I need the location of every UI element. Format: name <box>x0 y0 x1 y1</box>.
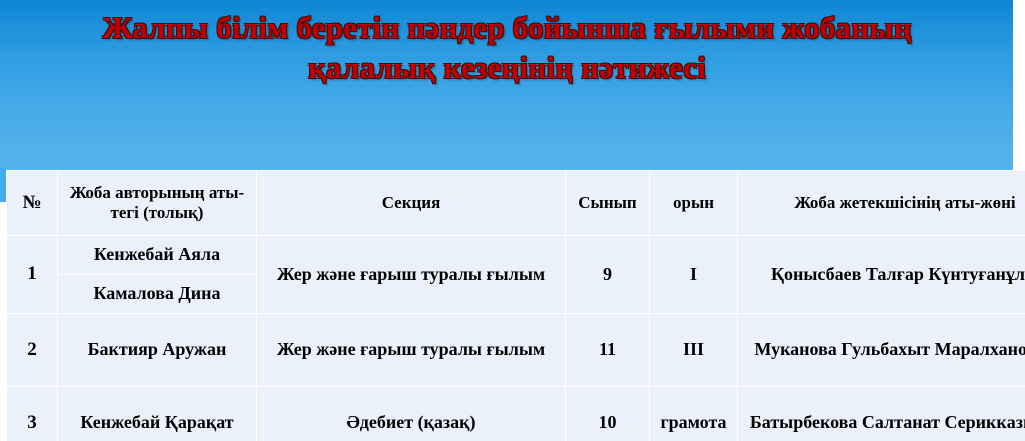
table-header-row: № Жоба авторының аты-тегі (толық) Секция… <box>7 171 1025 236</box>
cell-section: Әдебиет (қазақ) <box>257 387 566 441</box>
header-place: орын <box>650 171 738 236</box>
table-row: 3 Кенжебай Қарақат Әдебиет (қазақ) 10 гр… <box>7 387 1025 441</box>
cell-supervisor: Батырбекова Салтанат Сериккaзиева <box>738 387 1025 441</box>
slide-canvas: Жалпы білім беретін пәндер бойынша ғылым… <box>0 0 1025 441</box>
cell-section: Жер және ғарыш туралы ғылым <box>257 314 566 387</box>
title-line-1: Жалпы білім беретін пәндер бойынша ғылым… <box>32 8 982 48</box>
cell-author: Кенжебай Аяла <box>58 236 257 275</box>
cell-grade: 9 <box>566 236 650 314</box>
header-author: Жоба авторының аты-тегі (толық) <box>58 171 257 236</box>
header-supervisor: Жоба жетекшісінің аты-жөні <box>738 171 1025 236</box>
header-number: № <box>7 171 58 236</box>
page-title: Жалпы білім беретін пәндер бойынша ғылым… <box>32 8 982 87</box>
cell-supervisor: Муканова Гульбахыт Маралхановна <box>738 314 1025 387</box>
header-grade: Сынып <box>566 171 650 236</box>
cell-number: 2 <box>7 314 58 387</box>
cell-place: грамота <box>650 387 738 441</box>
cell-section: Жер және ғарыш туралы ғылым <box>257 236 566 314</box>
cell-number: 3 <box>7 387 58 441</box>
cell-place: III <box>650 314 738 387</box>
table-header: № Жоба авторының аты-тегі (толық) Секция… <box>7 171 1025 236</box>
cell-supervisor: Қонысбаев Талғар Күнтуғанұлы <box>738 236 1025 314</box>
cell-place: I <box>650 236 738 314</box>
table-row: 2 Бактияр Аружан Жер және ғарыш туралы ғ… <box>7 314 1025 387</box>
cell-grade: 11 <box>566 314 650 387</box>
header-section: Секция <box>257 171 566 236</box>
results-table: № Жоба авторының аты-тегі (толық) Секция… <box>6 170 1025 441</box>
cell-author: Камалова Дина <box>58 275 257 314</box>
cell-number: 1 <box>7 236 58 314</box>
table-row: 1 Кенжебай Аяла Жер және ғарыш туралы ғы… <box>7 236 1025 275</box>
cell-author: Бактияр Аружан <box>58 314 257 387</box>
cell-author: Кенжебай Қарақат <box>58 387 257 441</box>
title-line-2: қалалық кезеңінің нәтижесі <box>32 48 982 88</box>
table-body: 1 Кенжебай Аяла Жер және ғарыш туралы ғы… <box>7 236 1025 441</box>
cell-grade: 10 <box>566 387 650 441</box>
